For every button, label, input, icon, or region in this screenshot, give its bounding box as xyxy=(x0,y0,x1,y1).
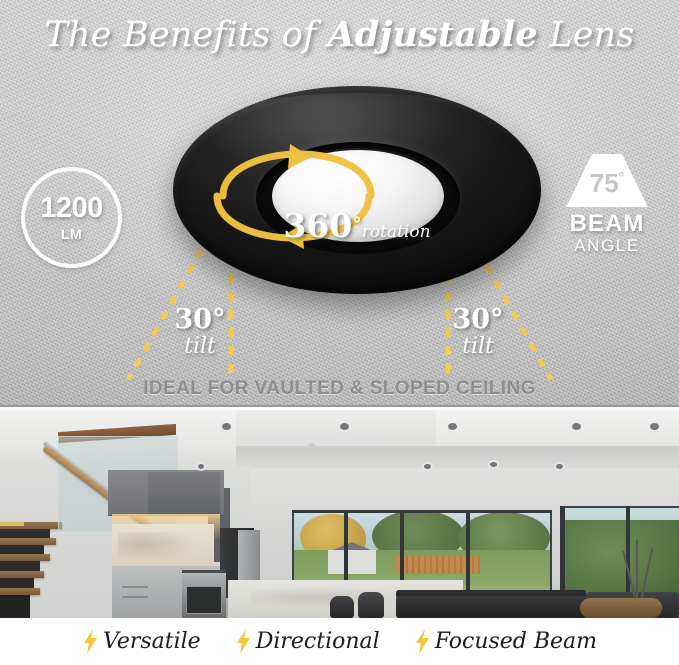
photo-color-grade xyxy=(0,410,679,618)
beam-label-line2: ANGLE xyxy=(553,236,661,256)
lightning-bolt-icon xyxy=(82,629,99,654)
title-part-1: The Benefits of xyxy=(45,15,328,55)
feature-label: Directional xyxy=(256,629,380,654)
rotation-degree-symbol: ° xyxy=(352,214,362,236)
feature-item: Directional xyxy=(235,629,380,654)
beam-cone-icon: 75° xyxy=(566,154,648,207)
lumen-badge: 1200 LM xyxy=(21,167,122,268)
feature-item: Focused Beam xyxy=(414,629,597,654)
title-part-2: Lens xyxy=(538,15,635,55)
lumen-unit: LM xyxy=(61,226,82,242)
page-title: The Benefits of Adjustable Lens xyxy=(0,14,679,55)
beam-angle-badge: 75° BEAM ANGLE xyxy=(553,154,661,266)
ideal-for-caption: IDEAL FOR VAULTED & SLOPED CEILING xyxy=(0,378,679,400)
lumen-value: 1200 xyxy=(40,194,103,223)
lightning-bolt-icon xyxy=(414,629,431,654)
tilt-left-word: tilt xyxy=(150,334,250,359)
infographic-page: The Benefits of Adjustable Lens 360°rota… xyxy=(0,0,679,665)
rotation-word: rotation xyxy=(362,222,431,242)
tilt-right-word: tilt xyxy=(428,334,528,359)
lightning-bolt-icon xyxy=(235,629,252,654)
panel-divider-gap xyxy=(0,407,679,410)
title-bold-word: Adjustable xyxy=(328,14,538,55)
feature-item: Versatile xyxy=(82,629,201,654)
tilt-right-value: 30° xyxy=(428,306,528,334)
rotation-label: 360°rotation xyxy=(173,206,541,245)
tilt-label-right: 30° tilt xyxy=(428,306,528,360)
tilt-label-left: 30° tilt xyxy=(150,306,250,360)
feature-bar: Versatile Directional Focused Beam xyxy=(0,618,679,665)
tilt-left-value: 30° xyxy=(150,306,250,334)
rotation-value: 360 xyxy=(283,206,352,245)
beam-label-line1: BEAM xyxy=(553,211,661,236)
arrow-head-right xyxy=(288,144,311,169)
feature-label: Versatile xyxy=(103,629,201,654)
interior-photo xyxy=(0,410,679,618)
feature-label: Focused Beam xyxy=(435,629,597,654)
beam-angle-value: 75° xyxy=(590,170,625,196)
